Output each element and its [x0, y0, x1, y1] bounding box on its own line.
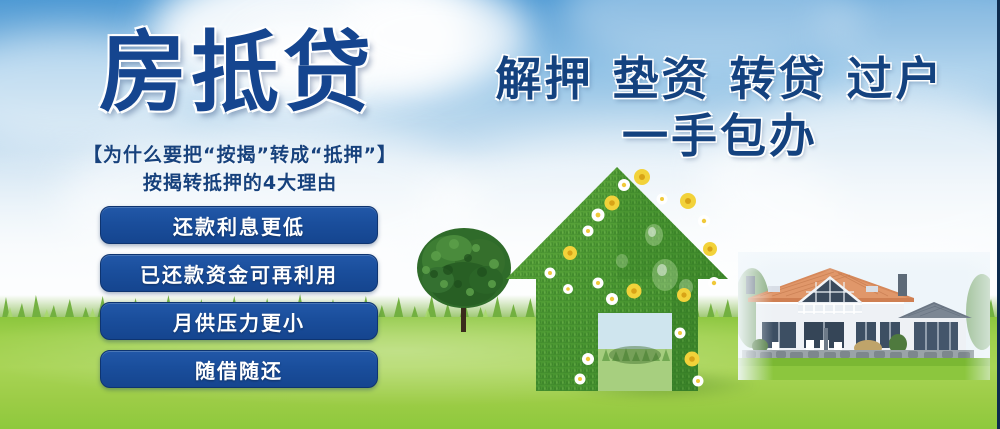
reason-button-1[interactable]: 还款利息更低 [100, 206, 378, 244]
page-title: 房抵贷 [62, 22, 412, 122]
subtitle-line-2: 按揭转抵押的4大理由 [0, 168, 480, 195]
promo-banner: 房抵贷 【为什么要把“按揭”转成“抵押”】 按揭转抵押的4大理由 解押 垫资 转… [0, 0, 1000, 429]
reason-button-2[interactable]: 已还款资金可再利用 [100, 254, 378, 292]
grass-house-icon [502, 163, 732, 395]
villa-photo [738, 252, 990, 380]
headline-line-2: 一手包办 [470, 100, 970, 166]
reason-button-4[interactable]: 随借随还 [100, 350, 378, 388]
reason-button-3[interactable]: 月供压力更小 [100, 302, 378, 340]
subtitle-line-1: 【为什么要把“按揭”转成“抵押”】 [0, 140, 480, 167]
